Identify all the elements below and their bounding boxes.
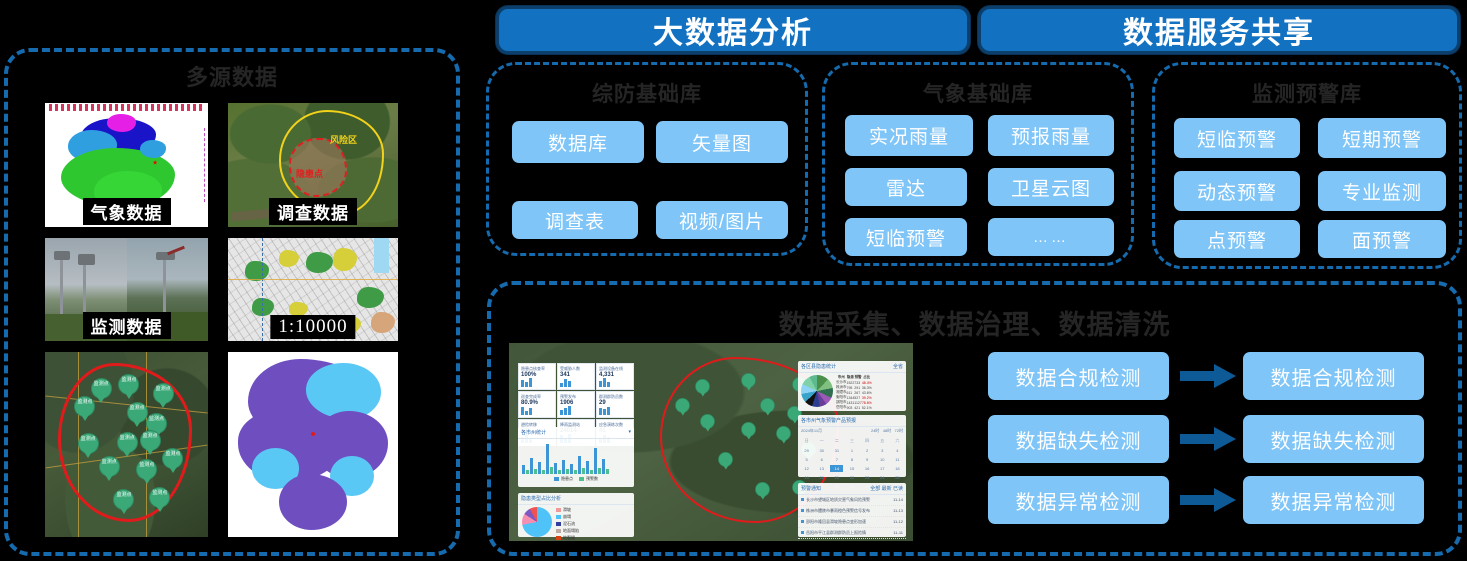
panel-title-monitoring-warning-library: 监测预警库 (1152, 78, 1462, 108)
card-satellite-marker-map: 监测点 监测点 监测点 监测点 监测点 监测点 监测点 监测点 监测点 监测点 … (45, 352, 208, 537)
weather-map-timestamp-bar (49, 104, 204, 111)
card-header: 预警通知全部 最新 已读 (798, 483, 906, 495)
diagram-canvas: 多源数据 气象数据 风险区 隐患点 调查数据 (0, 0, 1467, 561)
chip-dynamic-warning[interactable]: 动态预警 (1174, 171, 1300, 211)
list-item[interactable]: 长沙市望城区地质灾害气象风险预警11-14 (798, 495, 906, 506)
chip-data-compliance-check-target[interactable]: 数据合规检测 (1243, 352, 1424, 400)
dashboard-bar-chart-card: 各市州统计▾ 隐患点 预警数 (518, 427, 634, 487)
chip-satellite-cloud-image[interactable]: 卫星云图 (988, 168, 1114, 206)
pie-chart (522, 507, 552, 537)
stat-card: 隐患点核查率100% (518, 363, 556, 390)
panel-title-multi-source-data: 多源数据 (4, 60, 460, 92)
card-caption-survey-data: 调查数据 (269, 198, 357, 225)
card-header: 各区县隐患统计全省 (798, 361, 906, 373)
stat-card: 受威胁人数341 (557, 363, 595, 390)
stat-card: 监测设备在线4,331 (596, 363, 634, 390)
chip-professional-monitoring[interactable]: 专业监测 (1318, 171, 1446, 211)
card-monitoring-data: 监测数据 (45, 238, 208, 341)
chip-imminent-warning[interactable]: 短临预警 (1174, 118, 1300, 158)
card-density-map (228, 352, 398, 537)
chip-area-warning[interactable]: 面预警 (1318, 220, 1446, 258)
dashboard-stat-cards: 隐患点核查率100% 受威胁人数341 监测设备在线4,331 巡查完成率80.… (518, 363, 634, 421)
dashboard-donut-chart-card: 各区县隐患统计全省 市州隐患预警占比 长沙市152273348.4% 株洲市79… (798, 361, 906, 411)
density-map-image (228, 352, 398, 537)
stat-card: 群测群防员数29 (596, 391, 634, 418)
chip-data-anomaly-check-target[interactable]: 数据异常检测 (1243, 476, 1424, 524)
panel-title-data-pipeline: 数据采集、数据治理、数据清洗 (487, 303, 1462, 342)
zone-label-hazard: 隐患点 (296, 167, 323, 180)
gis-dashboard-screenshot: 隐患点核查率100% 受威胁人数341 监测设备在线4,331 巡查完成率80.… (509, 343, 913, 541)
dashboard-notice-list-card: 预警通知全部 最新 已读 长沙市望城区地质灾害气象风险预警11-14 株洲市醴陵… (798, 483, 906, 537)
list-item[interactable]: 株洲市醴陵市暴雨橙色预警信号发布11-13 (798, 506, 906, 517)
stat-card: 预警发布1906 (557, 391, 595, 418)
chip-forecast-rainfall[interactable]: 预报雨量 (988, 115, 1114, 156)
chip-more-ellipsis[interactable]: …… (988, 218, 1114, 256)
chip-data-compliance-check-source[interactable]: 数据合规检测 (988, 352, 1169, 400)
chip-observed-rainfall[interactable]: 实况雨量 (845, 115, 973, 156)
satellite-marker-map-image: 监测点 监测点 监测点 监测点 监测点 监测点 监测点 监测点 监测点 监测点 … (45, 352, 208, 537)
chip-short-period-warning[interactable]: 短期预警 (1318, 118, 1446, 158)
card-header: 隐患类型占比分析 (518, 493, 634, 505)
list-item[interactable]: 岳阳市平江县群测群防员上报险情11-11 (798, 528, 906, 539)
chip-short-term-warning[interactable]: 短临预警 (845, 218, 967, 256)
panel-title-comprehensive-prevention-library: 综防基础库 (486, 78, 808, 108)
chip-database[interactable]: 数据库 (512, 121, 644, 163)
stat-card: 巡查完成率80.9% (518, 391, 556, 418)
card-weather-data: 气象数据 (45, 103, 208, 227)
card-caption-topographic-map: 1:10000 (270, 315, 355, 339)
list-item[interactable]: 邵阳市隆回县滑坡隐患点变形加速11-12 (798, 517, 906, 528)
banner-data-service-sharing[interactable]: 数据服务共享 (978, 6, 1460, 54)
chip-data-missing-check-target[interactable]: 数据缺失检测 (1243, 415, 1424, 463)
card-caption-weather-data: 气象数据 (83, 198, 171, 225)
panel-title-meteorological-library: 气象基础库 (822, 78, 1134, 108)
chip-data-missing-check-source[interactable]: 数据缺失检测 (988, 415, 1169, 463)
banner-big-data-analysis[interactable]: 大数据分析 (496, 6, 970, 54)
chip-radar[interactable]: 雷达 (845, 168, 967, 206)
chip-vector-map[interactable]: 矢量图 (656, 121, 788, 163)
chip-data-anomaly-check-source[interactable]: 数据异常检测 (988, 476, 1169, 524)
chip-video-image[interactable]: 视频/图片 (656, 201, 788, 239)
dashboard-pie-chart-card: 隐患类型占比分析 滑坡 崩塌 泥石流 地面塌陷 地裂缝 (518, 493, 634, 537)
zone-label-risk: 风险区 (330, 133, 357, 146)
chip-point-warning[interactable]: 点预警 (1174, 220, 1300, 258)
flow-arrow-3 (1180, 487, 1236, 513)
card-header: 各市州气象预警产品预报 (798, 415, 906, 427)
dashboard-calendar-card: 各市州气象预警产品预报 2024年11月24时 48时 72时 日一二三四五六 … (798, 415, 906, 477)
card-caption-monitoring-data: 监测数据 (83, 312, 171, 339)
chip-survey-form[interactable]: 调查表 (512, 201, 638, 239)
card-survey-data: 风险区 隐患点 调查数据 (228, 103, 398, 227)
card-topographic-map: 1:10000 (228, 238, 398, 341)
donut-chart (801, 375, 833, 407)
flow-arrow-2 (1180, 426, 1236, 452)
flow-arrow-1 (1180, 363, 1236, 389)
card-header: 各市州统计▾ (518, 427, 634, 439)
